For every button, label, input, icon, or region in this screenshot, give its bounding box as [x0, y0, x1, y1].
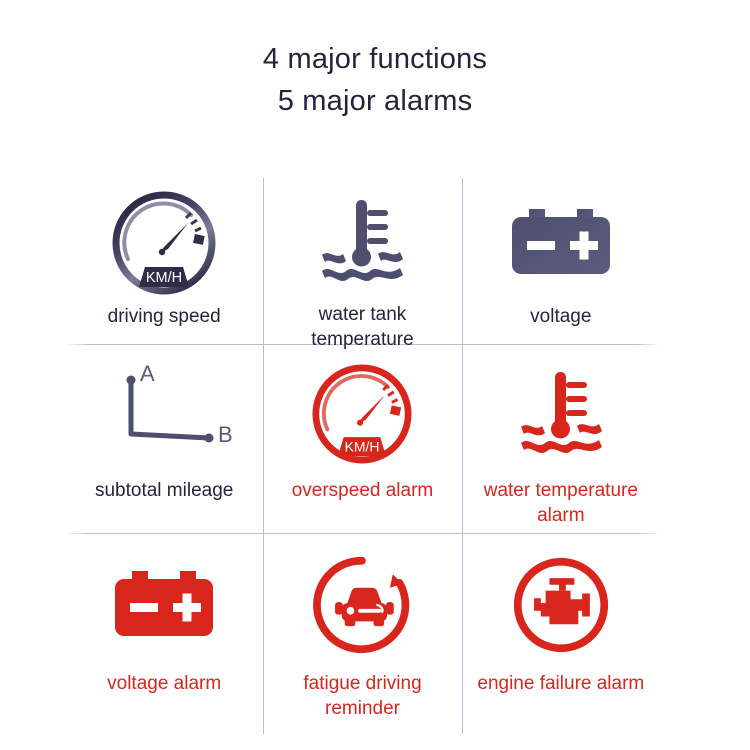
- feature-grid: KM/H driving speed: [65, 178, 660, 734]
- water-temperature-icon: [509, 360, 613, 468]
- grid-cell-engine-failure-alarm[interactable]: engine failure alarm: [462, 533, 660, 734]
- cell-label: fatigue driving reminder: [299, 671, 425, 721]
- cell-label: water temperature alarm: [462, 478, 660, 528]
- grid-cell-water-temperature-alarm[interactable]: water temperature alarm: [462, 344, 660, 533]
- page-title: 4 major functions 5 major alarms: [0, 38, 750, 122]
- cell-label: subtotal mileage: [91, 478, 237, 503]
- cell-label: overspeed alarm: [288, 478, 438, 503]
- speedometer-icon: KM/H: [312, 360, 412, 468]
- mileage-point-b-label: B: [218, 422, 233, 447]
- title-line-alarms: 5 major alarms: [0, 80, 750, 122]
- speedometer-icon: KM/H: [112, 190, 216, 296]
- fatigue-driving-car-icon: [312, 551, 412, 659]
- grid-cell-fatigue-driving-reminder[interactable]: fatigue driving reminder: [263, 533, 461, 734]
- title-line-functions: 4 major functions: [0, 38, 750, 80]
- cell-label-line-1: fatigue driving: [303, 673, 421, 694]
- cell-label-line-2: reminder: [325, 698, 400, 719]
- mileage-point-a-label: A: [140, 361, 155, 386]
- grid-cell-overspeed-alarm[interactable]: KM/H overspeed alarm: [263, 344, 461, 533]
- mileage-path-icon: A B: [99, 360, 229, 468]
- cell-label: engine failure alarm: [473, 671, 648, 696]
- water-temperature-icon: [310, 190, 414, 294]
- grid-cell-driving-speed[interactable]: KM/H driving speed: [65, 178, 263, 344]
- speedometer-unit-label: KM/H: [345, 439, 380, 455]
- cell-label: voltage: [526, 304, 595, 329]
- cell-label: voltage alarm: [103, 671, 225, 696]
- grid-cell-subtotal-mileage[interactable]: A B subtotal mileage: [65, 344, 263, 533]
- feature-overview-panel: 4 major functions 5 major alarms: [0, 0, 750, 750]
- speedometer-unit-label: KM/H: [146, 270, 182, 286]
- grid-cell-voltage-alarm[interactable]: voltage alarm: [65, 533, 263, 734]
- cell-label: driving speed: [104, 304, 225, 329]
- battery-icon: [501, 190, 621, 296]
- cell-label-line-1: water tank: [319, 304, 407, 325]
- grid-cell-water-tank-temperature[interactable]: water tank temperature: [263, 178, 461, 344]
- grid-cell-voltage[interactable]: voltage: [462, 178, 660, 344]
- engine-failure-icon: [511, 551, 611, 659]
- battery-icon: [104, 551, 224, 659]
